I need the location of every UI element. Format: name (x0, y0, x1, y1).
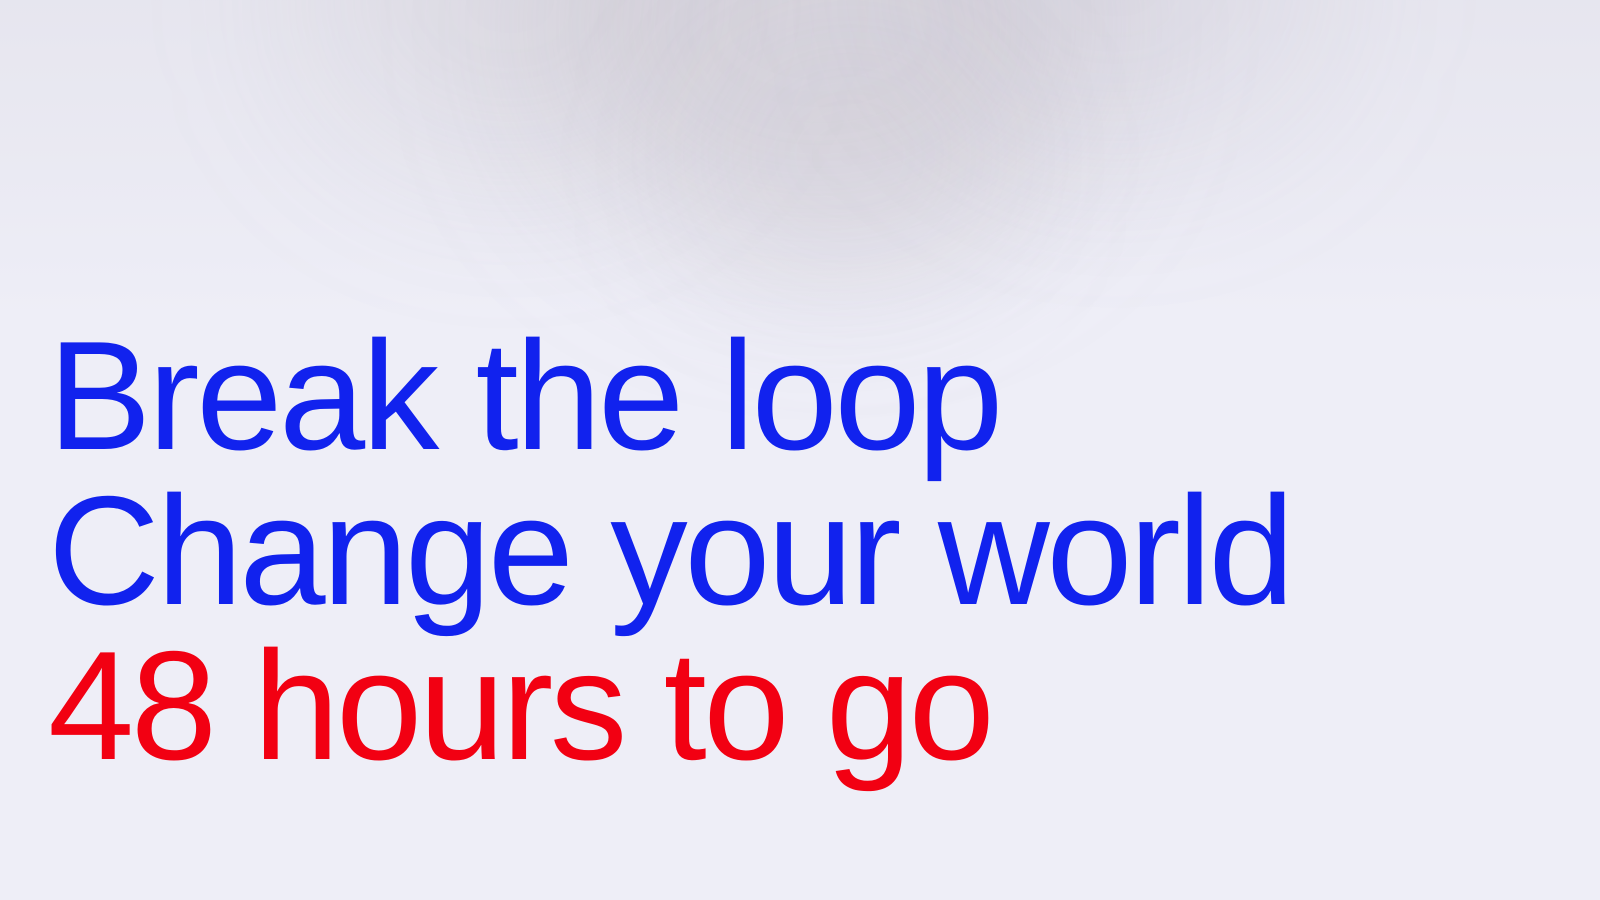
haze-blob-lower (700, 40, 1000, 270)
headline-line-1: Break the loop (48, 318, 1568, 473)
headline-block: Break the loop Change your world 48 hour… (48, 318, 1568, 783)
haze-blob-center (540, 0, 1100, 260)
haze-blob-right (900, 0, 1330, 160)
headline-line-2: Change your world (48, 473, 1568, 628)
top-gradient-wash (0, 0, 1600, 320)
poster-canvas: Break the loop Change your world 48 hour… (0, 0, 1600, 900)
haze-blob-left (300, 0, 720, 180)
headline-line-3-countdown: 48 hours to go (48, 628, 1568, 783)
